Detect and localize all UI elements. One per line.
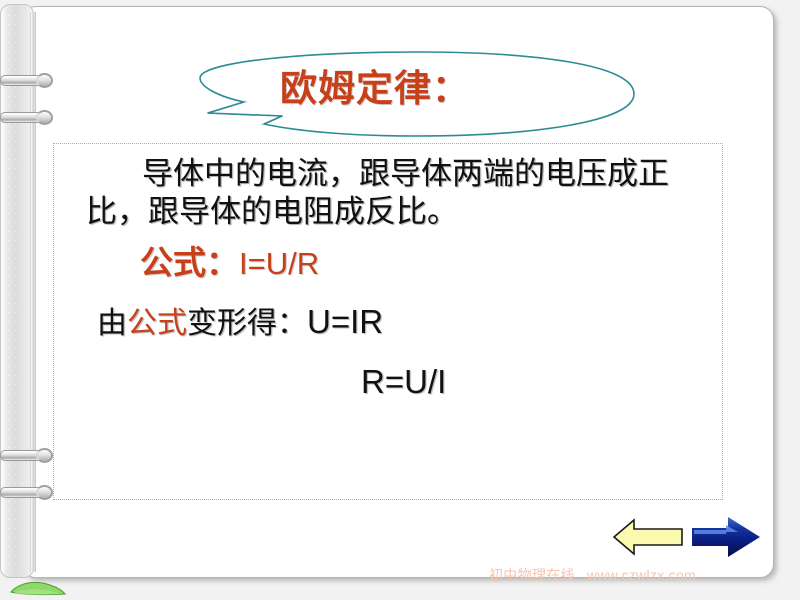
formula-expression-uir: U=IR: [307, 303, 383, 340]
prev-slide-button[interactable]: [612, 516, 684, 558]
arrow-left-icon[interactable]: [612, 516, 684, 558]
derive-prefix: 由: [97, 306, 127, 341]
formula-line-derived-u: 由公式变形得：U=IR: [97, 303, 383, 343]
page-title: 欧姆定律：: [280, 66, 520, 110]
spiral-binder-ring: [0, 110, 54, 125]
spiral-binder-ring: [0, 73, 54, 88]
derive-highlight: 公式: [127, 306, 187, 341]
formula-line-primary: 公式：I=U/R: [140, 243, 319, 284]
watermark-url: www.czwlzx.com: [587, 567, 696, 583]
formula-label: 公式：: [140, 243, 239, 282]
derive-middle: 变形得：: [187, 306, 307, 341]
watermark-site-name: 初中物理在线: [489, 568, 575, 584]
watermark: 初中物理在线www.czwlzx.com: [489, 566, 696, 585]
slide-canvas: 欧姆定律： 导体中的电流，跟导体两端的电压成正比，跟导体的电阻成反比。 公式：I…: [0, 0, 800, 600]
spiral-binder-ring: [0, 448, 54, 463]
ring-hook: [36, 110, 53, 125]
ring-hook: [36, 73, 53, 88]
arrow-right-icon[interactable]: [692, 516, 762, 558]
formula-expression-rui: R=U/I: [361, 362, 446, 402]
formula-expression-iur: I=U/R: [239, 246, 319, 281]
ring-hook: [36, 448, 53, 463]
next-slide-button[interactable]: [692, 516, 762, 558]
green-leaf-icon: [10, 578, 66, 596]
ring-hook: [36, 485, 53, 500]
spiral-binder-ring: [0, 485, 54, 500]
leaf-decoration-icon: [10, 578, 66, 596]
ohms-law-statement: 导体中的电流，跟导体两端的电压成正比，跟导体的电阻成反比。: [86, 155, 720, 231]
